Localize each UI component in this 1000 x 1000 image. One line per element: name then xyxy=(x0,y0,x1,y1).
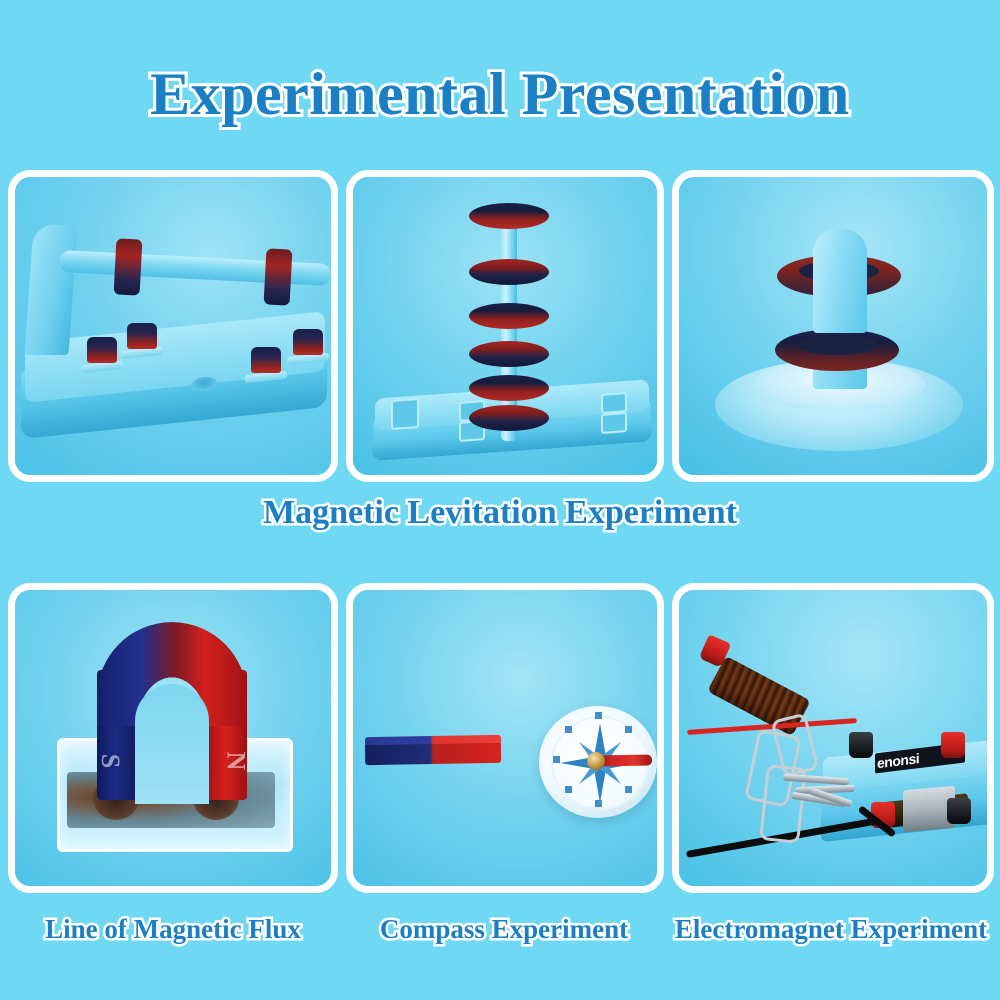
compass-tick xyxy=(565,726,572,733)
saddle-magnet xyxy=(251,347,281,373)
caption-line-of-magnetic-flux: Line of Magnetic Flux xyxy=(8,914,338,945)
center-post-front xyxy=(813,229,867,333)
compass-experiment-panel xyxy=(346,583,664,893)
photo-scene-6: enonsi xyxy=(679,590,987,886)
compass-tick xyxy=(565,786,572,793)
magnetic-levitation-rod-panel xyxy=(8,170,338,482)
base-slot xyxy=(601,392,627,414)
saddle-magnet xyxy=(293,329,323,355)
ring-magnet xyxy=(469,303,549,329)
stacked-ring-magnets-panel xyxy=(346,170,664,482)
compass-tick xyxy=(625,786,632,793)
photo-scene-3 xyxy=(679,177,987,475)
compass-pivot xyxy=(587,752,605,770)
magnet-arch-gap xyxy=(135,684,209,804)
photo-scene-2 xyxy=(353,177,657,475)
compass-tick xyxy=(553,756,560,763)
base-slot xyxy=(601,412,627,434)
caption-electromagnet-experiment: Electromagnet Experiment xyxy=(666,914,996,945)
compass-tick xyxy=(595,712,602,719)
poster-root: Experimental Presentation xyxy=(0,0,1000,1000)
electromagnet-experiment-panel: enonsi xyxy=(672,583,994,893)
compass-tick xyxy=(625,726,632,733)
board-terminal-red xyxy=(941,732,965,758)
base-slot xyxy=(391,398,419,430)
pole-label-north: N xyxy=(221,752,251,771)
caption-magnetic-levitation: Magnetic Levitation Experiment xyxy=(0,494,1000,532)
ring-magnet xyxy=(264,248,293,305)
ring-magnet xyxy=(469,405,549,431)
ring-magnet xyxy=(114,238,143,295)
ring-magnet xyxy=(469,259,549,285)
photo-scene-1 xyxy=(15,177,331,475)
ring-magnet xyxy=(469,375,549,401)
board-terminal-black xyxy=(947,798,971,824)
caption-compass-experiment: Compass Experiment xyxy=(345,914,663,945)
line-of-magnetic-flux-panel: S N xyxy=(8,583,338,893)
compass-tick xyxy=(595,800,602,807)
pole-label-south: S xyxy=(95,754,125,768)
ring-magnet xyxy=(469,341,549,367)
ring-magnet-hole xyxy=(797,335,877,355)
page-title: Experimental Presentation xyxy=(0,60,1000,129)
photo-scene-5 xyxy=(353,590,657,886)
levitating-disc-panel xyxy=(672,170,994,482)
saddle-magnet xyxy=(87,337,117,363)
horseshoe-magnet: S N xyxy=(97,622,247,800)
photo-scene-4: S N xyxy=(15,590,331,886)
board-terminal-black xyxy=(849,732,873,758)
upright-support xyxy=(24,225,77,355)
ring-magnet xyxy=(469,203,549,229)
saddle-magnet xyxy=(127,323,157,349)
